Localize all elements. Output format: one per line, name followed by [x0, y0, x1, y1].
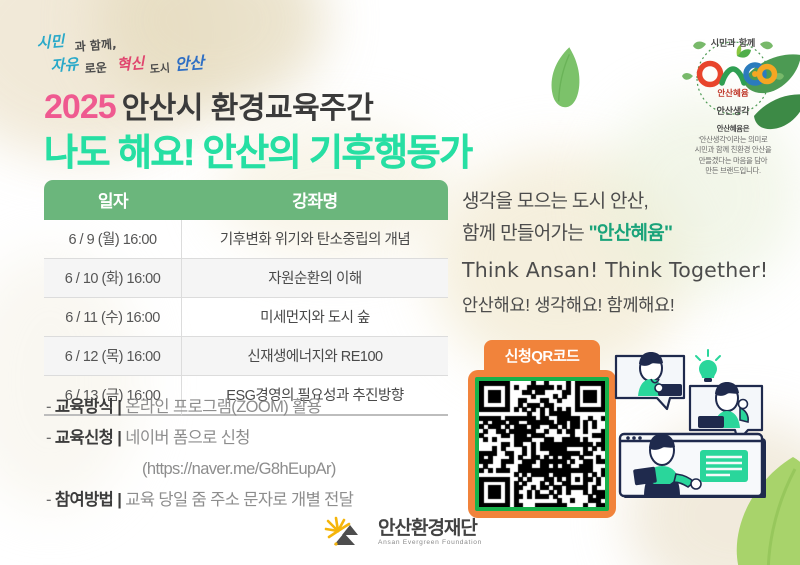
brand-description-line: 만들겠다는 마음을 담아	[699, 156, 768, 165]
info-value: 교육 당일 줌 주소 문자로 개별 전달	[125, 491, 353, 509]
bullet-dash: -	[46, 429, 51, 447]
info-value: 온라인 프로그램(ZOOM) 활용	[125, 398, 321, 416]
brand-description-title: 안산혜윰은	[672, 124, 794, 135]
info-separator: |	[117, 398, 121, 416]
foundation-name-en: Ansan Evergreen Foundation	[378, 540, 482, 547]
cell-date: 6 / 12 (목) 16:00	[44, 337, 182, 376]
info-key: 참여방법	[55, 491, 113, 509]
info-separator: |	[117, 491, 121, 509]
qr-label: 신청QR코드	[484, 340, 600, 372]
lightbulb-icon	[696, 350, 720, 382]
brand-description-line: 시민과 함께 친환경 안산을	[695, 145, 772, 154]
brand-description: 안산혜윰은 '안산생각'이라는 의미로 시민과 함께 친환경 안산을 만들겠다는…	[672, 124, 794, 177]
bullet-dash: -	[46, 398, 51, 416]
poster-canvas: 시민 과 함께, 자유 로운 혁신 도시 안산 2025안산시 환경교육주간 나…	[0, 0, 800, 565]
city-slogan: 시민 과 함께, 자유 로운 혁신 도시 안산	[33, 26, 243, 86]
cell-date: 6 / 10 (화) 16:00	[44, 259, 182, 298]
foundation-name-ko: 안산환경재단	[378, 519, 482, 538]
bullet-dash: -	[46, 491, 51, 509]
slogan-line-3-english: Think Ansan! Think Together!	[462, 255, 782, 285]
brand-description-line: 만든 브랜드입니다.	[705, 166, 761, 175]
table-row: 6 / 11 (수) 16:00 미세먼지와 도시 숲	[44, 298, 448, 337]
column-header-course: 강좌명	[182, 180, 448, 220]
qr-inner-border	[475, 377, 609, 511]
table-header-row: 일자 강좌명	[44, 180, 448, 220]
brand-slogan-block: 생각을 모으는 도시 안산, 함께 만들어가는 "안산혜윰" Think Ans…	[462, 186, 782, 318]
svg-text:로운: 로운	[84, 59, 107, 76]
page-title: 2025안산시 환경교육주간 나도 해요! 안산의 기후행동가	[44, 88, 472, 175]
ansan-heyum-logo: 시민과 함께 안산생각 안산혜윰	[681, 26, 785, 122]
video-conference-icon	[612, 338, 794, 498]
cell-course: 기후변화 위기와 탄소중립의 개념	[182, 220, 448, 259]
presenter-window	[620, 434, 766, 498]
headline-line-2: 나도 해요! 안산의 기후행동가	[44, 130, 472, 175]
table-row: 6 / 12 (목) 16:00 신재생에너지와 RE100	[44, 337, 448, 376]
headline-year: 2025	[44, 88, 116, 126]
info-item-method: -교육방식|온라인 프로그램(ZOOM) 활용	[46, 392, 456, 423]
qr-application-block[interactable]: 신청QR코드	[468, 340, 616, 518]
application-url[interactable]: (https://naver.me/G8hEupAr)	[46, 454, 456, 485]
qr-frame	[468, 370, 616, 518]
cell-date: 6 / 9 (월) 16:00	[44, 220, 182, 259]
svg-text:안산생각: 안산생각	[716, 105, 750, 117]
svg-text:자유: 자유	[50, 55, 80, 75]
table-row: 6 / 9 (월) 16:00 기후변화 위기와 탄소중립의 개념	[44, 220, 448, 259]
brand-emblem: 시민과 함께 안산생각 안산혜윰 안산혜윰은 '안산생각'이라는 의미로 시민과…	[672, 26, 794, 177]
slogan-line-2-prefix: 함께 만들어가는	[462, 223, 589, 244]
info-key: 교육방식	[55, 398, 113, 416]
schedule-table: 일자 강좌명 6 / 9 (월) 16:00 기후변화 위기와 탄소중립의 개념…	[44, 180, 448, 416]
cell-course: 신재생에너지와 RE100	[182, 337, 448, 376]
brand-name-quoted: "안산혜윰"	[589, 223, 673, 244]
participant-bubble-1	[616, 352, 684, 409]
headline-subject: 안산시 환경교육주간	[122, 92, 374, 125]
slogan-line-4: 안산해요! 생각해요! 함께해요!	[462, 292, 782, 318]
svg-text:시민: 시민	[36, 32, 67, 52]
table-row: 6 / 10 (화) 16:00 자원순환의 이해	[44, 259, 448, 298]
program-info-list: -교육방식|온라인 프로그램(ZOOM) 활용 -교육신청|네이버 폼으로 신청…	[46, 392, 456, 516]
cell-course: 자원순환의 이해	[182, 259, 448, 298]
leaf-icon	[543, 44, 588, 112]
info-value: 네이버 폼으로 신청	[125, 429, 250, 447]
slogan-line-2: 함께 만들어가는 "안산혜윰"	[462, 218, 782, 250]
svg-text:안산: 안산	[174, 53, 207, 74]
cell-date: 6 / 11 (수) 16:00	[44, 298, 182, 337]
column-header-date: 일자	[44, 180, 182, 220]
participant-bubble-2	[690, 350, 762, 441]
svg-text:도시: 도시	[149, 62, 170, 76]
headline-line-1: 2025안산시 환경교육주간	[44, 88, 472, 128]
brand-description-line: '안산생각'이라는 의미로	[699, 135, 768, 144]
foundation-logo: 안산환경재단 Ansan Evergreen Foundation	[322, 512, 492, 554]
sun-rays-icon	[322, 513, 372, 553]
qr-code-icon[interactable]	[479, 381, 605, 507]
info-key: 교육신청	[55, 429, 113, 447]
slogan-line-1: 생각을 모으는 도시 안산,	[462, 186, 782, 218]
info-item-application: -교육신청|네이버 폼으로 신청	[46, 423, 456, 454]
foundation-name: 안산환경재단 Ansan Evergreen Foundation	[378, 519, 482, 547]
cell-course: 미세먼지와 도시 숲	[182, 298, 448, 337]
svg-text:시민과 함께: 시민과 함께	[711, 37, 756, 49]
svg-text:과 함께,: 과 함께,	[74, 36, 117, 54]
info-separator: |	[117, 429, 121, 447]
svg-text:혁신: 혁신	[116, 54, 147, 74]
svg-text:안산혜윰: 안산혜윰	[717, 88, 748, 99]
